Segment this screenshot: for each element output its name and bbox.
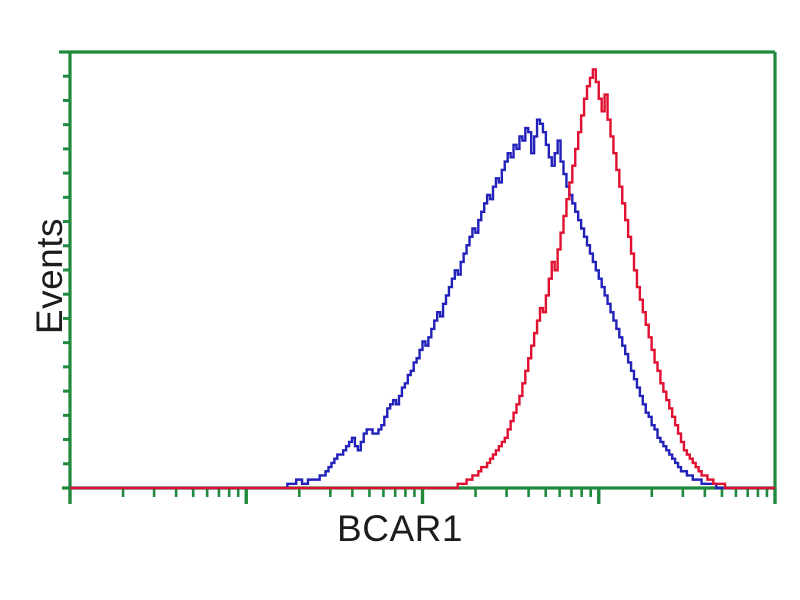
x-axis-ticks — [70, 488, 775, 504]
histogram-trace-control — [70, 120, 775, 488]
histogram-trace-BCAR1-stained — [70, 69, 775, 488]
y-axis-title: Events — [29, 166, 71, 386]
x-axis-title: BCAR1 — [0, 508, 800, 550]
histogram-traces — [70, 69, 775, 488]
axes-frame — [62, 52, 775, 490]
flow-cytometry-figure: Events BCAR1 — [0, 0, 800, 600]
